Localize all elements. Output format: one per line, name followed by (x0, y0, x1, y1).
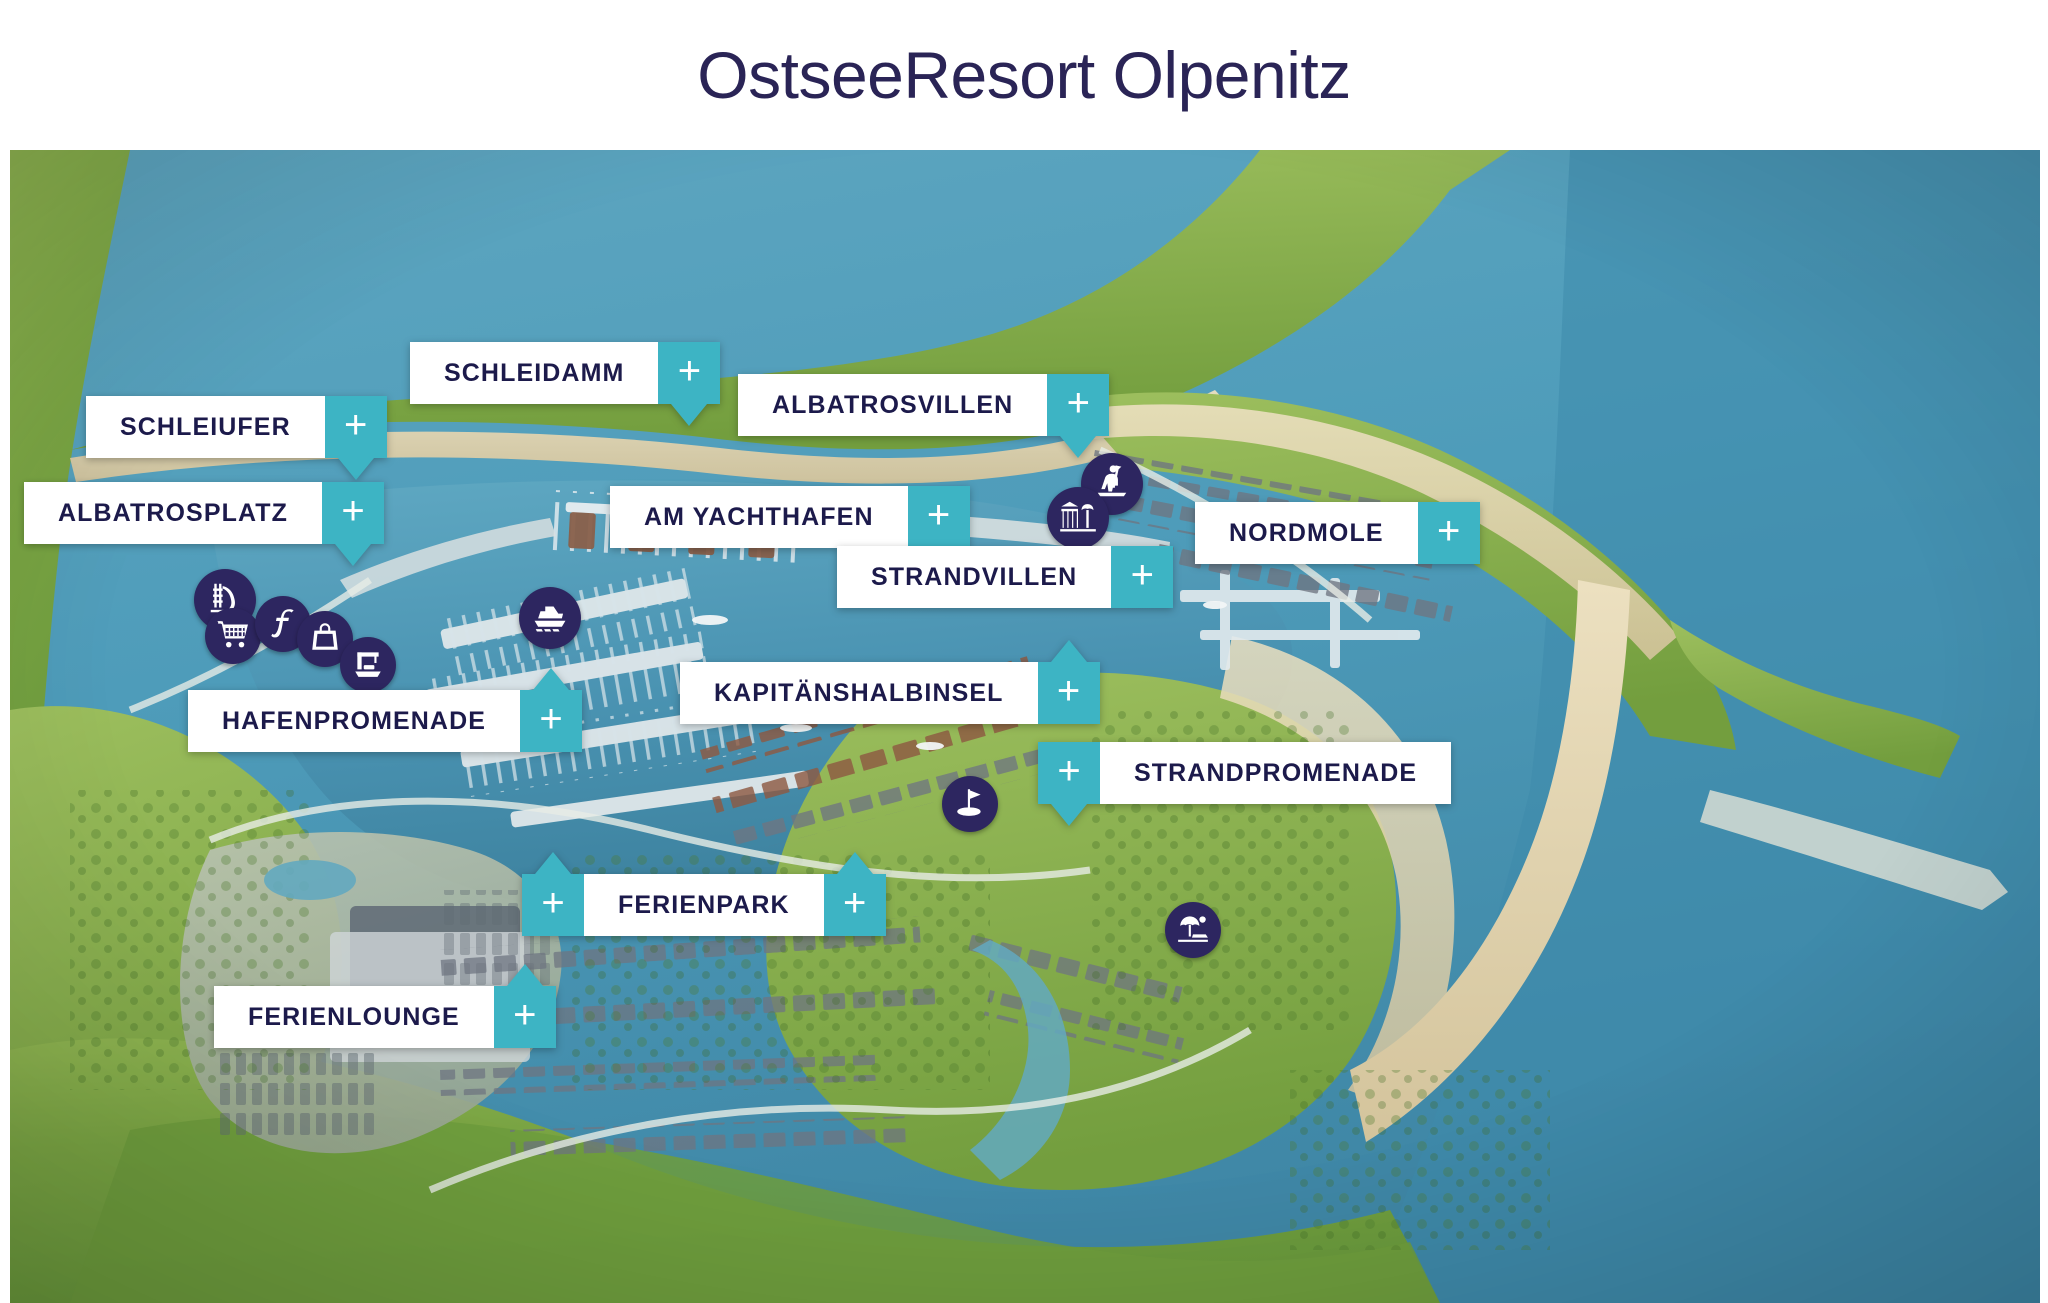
plus-icon: + (843, 883, 866, 923)
label-text: ALBATROSPLATZ (24, 482, 322, 544)
golf-flag-icon (953, 785, 987, 824)
label-text: STRANDPROMENADE (1100, 742, 1451, 804)
expand-button[interactable]: + (322, 482, 384, 544)
expand-button[interactable]: + (494, 986, 556, 1048)
label-text: FERIENPARK (584, 874, 824, 936)
plus-icon: + (927, 495, 950, 535)
expand-button-right[interactable]: + (824, 874, 886, 936)
plus-icon: + (539, 699, 562, 739)
page-header: OstseeResort Olpenitz (0, 0, 2048, 150)
page-title: OstseeResort Olpenitz (697, 37, 1350, 113)
expand-button[interactable]: + (908, 486, 970, 548)
expand-button[interactable]: + (1047, 374, 1109, 436)
f-script-icon (266, 605, 300, 644)
beachclub-poi[interactable] (1047, 487, 1109, 549)
label-text: STRANDVILLEN (837, 546, 1111, 608)
plus-icon: + (1057, 671, 1080, 711)
plus-icon: + (341, 491, 364, 531)
page-root: OstseeResort Olpenitz (0, 0, 2048, 1303)
motorboat-icon (531, 597, 569, 640)
label-text: AM YACHTHAFEN (610, 486, 908, 548)
beach-resort-icon (1059, 497, 1097, 540)
map-label-hafenpromenade[interactable]: HAFENPROMENADE + (188, 690, 582, 752)
plus-icon: + (678, 351, 701, 391)
plus-icon: + (344, 405, 367, 445)
expand-button[interactable]: + (658, 342, 720, 404)
map-label-schleiufer[interactable]: SCHLEIUFER + (86, 396, 387, 458)
resort-map[interactable]: SCHLEIDAMM + ALBATROSVILLEN + SCHLEIUFER… (10, 150, 2040, 1303)
plus-icon: + (1067, 383, 1090, 423)
label-text: KAPITÄNSHALBINSEL (680, 662, 1038, 724)
map-label-am-yachthafen[interactable]: AM YACHTHAFEN + (610, 486, 970, 548)
map-label-ferienpark[interactable]: + FERIENPARK + (522, 874, 886, 936)
expand-button[interactable]: + (325, 396, 387, 458)
map-label-kapitaenshalbinsel[interactable]: KAPITÄNSHALBINSEL + (680, 662, 1100, 724)
label-text: ALBATROSVILLEN (738, 374, 1047, 436)
label-text: FERIENLOUNGE (214, 986, 494, 1048)
expand-button[interactable]: + (1038, 742, 1100, 804)
plus-icon: + (513, 995, 536, 1035)
map-label-schleidamm[interactable]: SCHLEIDAMM + (410, 342, 720, 404)
golf-poi[interactable] (942, 776, 998, 832)
map-label-nordmole[interactable]: NORDMOLE + (1195, 502, 1480, 564)
map-label-albatrosvillen[interactable]: ALBATROSVILLEN + (738, 374, 1109, 436)
expand-button[interactable]: + (1418, 502, 1480, 564)
label-text: HAFENPROMENADE (188, 690, 520, 752)
beach-poi[interactable] (1165, 902, 1221, 958)
shopping-bag-icon (308, 620, 342, 659)
expand-button[interactable]: + (1111, 546, 1173, 608)
map-label-strandpromenade[interactable]: STRANDPROMENADE + (1038, 742, 1451, 804)
label-text: SCHLEIDAMM (410, 342, 658, 404)
expand-button-left[interactable]: + (522, 874, 584, 936)
boat-rental-poi[interactable] (519, 587, 581, 649)
boat-crane-icon (351, 646, 385, 685)
plus-icon: + (541, 883, 564, 923)
map-label-ferienlounge[interactable]: FERIENLOUNGE + (214, 986, 556, 1048)
beach-umbrella-icon (1176, 911, 1210, 950)
map-label-strandvillen[interactable]: STRANDVILLEN + (837, 546, 1173, 608)
plus-icon: + (1131, 555, 1154, 595)
map-label-albatrosplatz[interactable]: ALBATROSPLATZ + (24, 482, 384, 544)
label-text: SCHLEIUFER (86, 396, 325, 458)
expand-button[interactable]: + (520, 690, 582, 752)
plus-icon: + (1437, 511, 1460, 551)
expand-button[interactable]: + (1038, 662, 1100, 724)
shopping-cart-icon (216, 617, 250, 656)
label-text: NORDMOLE (1195, 502, 1418, 564)
plus-icon: + (1057, 751, 1080, 791)
boat-hoist-poi[interactable] (340, 637, 396, 693)
supermarket-poi[interactable] (205, 608, 261, 664)
